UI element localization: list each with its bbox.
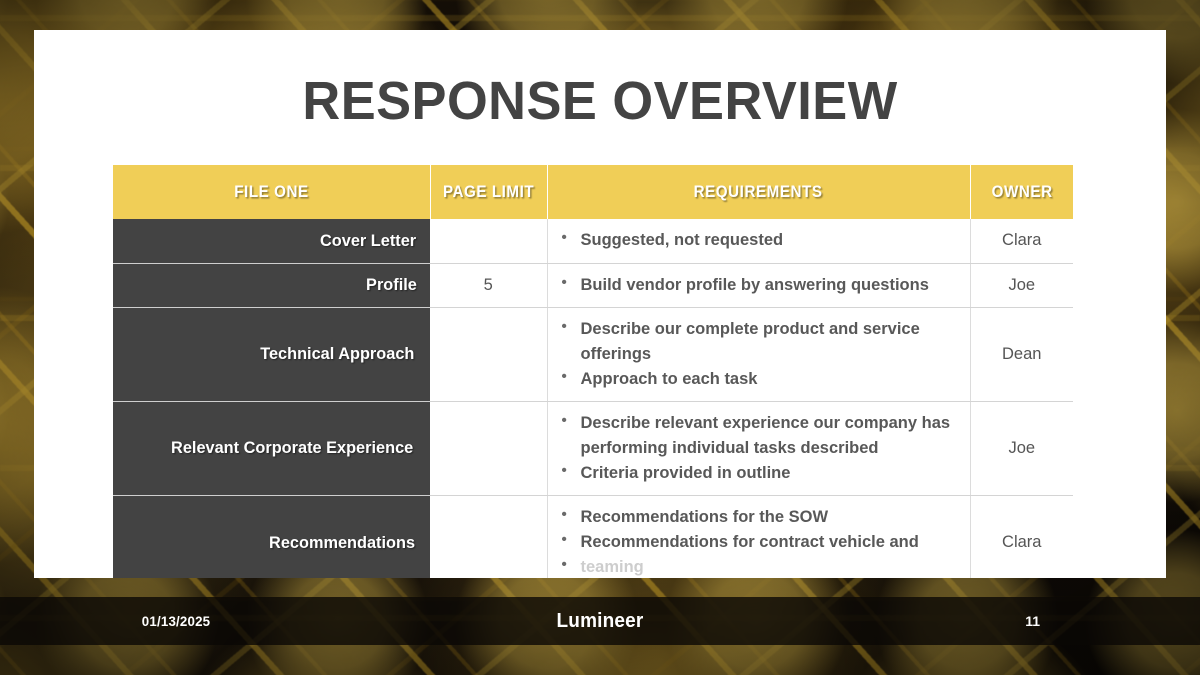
cell-file-name: Relevant Corporate Experience xyxy=(113,401,430,495)
table-row[interactable]: Profile 5 Build vendor profile by answer… xyxy=(113,263,1073,307)
cell-owner: Joe xyxy=(970,401,1073,495)
table-row[interactable]: Cover Letter Suggested, not requested Cl… xyxy=(113,219,1073,263)
file-name-label: Relevant Corporate Experience xyxy=(171,438,413,458)
requirement-item: Build vendor profile by answering questi… xyxy=(560,273,956,298)
cell-page-limit xyxy=(430,401,547,495)
requirement-item-clipped: teaming xyxy=(560,555,956,578)
cell-page-limit xyxy=(430,219,547,263)
column-header-owner[interactable]: OWNER xyxy=(970,165,1073,219)
requirement-item: Describe our complete product and servic… xyxy=(560,317,956,367)
footer-brand-name: Lumineer xyxy=(30,610,1170,633)
cell-file-name: Cover Letter xyxy=(113,219,430,263)
requirements-list: Build vendor profile by answering questi… xyxy=(560,273,956,298)
requirement-item: Recommendations for the SOW xyxy=(560,505,956,530)
cell-owner: Clara xyxy=(970,496,1073,578)
requirement-item: Describe relevant experience our company… xyxy=(560,411,956,461)
file-name-label: Recommendations xyxy=(269,533,415,553)
requirement-item: Suggested, not requested xyxy=(560,228,956,253)
column-header-owner-label: OWNER xyxy=(991,183,1052,202)
cell-requirements: Describe relevant experience our company… xyxy=(547,401,970,495)
page-title: RESPONSE OVERVIEW xyxy=(51,74,1149,128)
cell-page-limit xyxy=(430,496,547,578)
table-row[interactable]: Relevant Corporate Experience Describe r… xyxy=(113,401,1073,495)
response-overview-table: FILE ONE PAGE LIMIT REQUIREMENTS OWNER xyxy=(113,165,1073,578)
slide-content-card: RESPONSE OVERVIEW FILE ONE PAGE LIMIT xyxy=(34,30,1166,578)
requirements-list: Describe relevant experience our company… xyxy=(560,411,956,486)
requirements-list: Suggested, not requested xyxy=(560,228,956,253)
requirement-item: Recommendations for contract vehicle and xyxy=(560,530,956,555)
requirement-item: Criteria provided in outline xyxy=(560,461,956,486)
column-header-requirements-label: REQUIREMENTS xyxy=(694,183,823,202)
cell-file-name: Technical Approach xyxy=(113,307,430,401)
requirements-list: Recommendations for the SOW Recommendati… xyxy=(560,505,956,578)
footer-page-number: 11 xyxy=(1025,613,1040,629)
slide-footer: 01/13/2025 Lumineer 11 xyxy=(0,597,1200,645)
cell-owner: Dean xyxy=(970,307,1073,401)
cell-requirements: Describe our complete product and servic… xyxy=(547,307,970,401)
requirement-item: Approach to each task xyxy=(560,367,956,392)
table-header-row: FILE ONE PAGE LIMIT REQUIREMENTS OWNER xyxy=(113,165,1073,219)
table-row[interactable]: Technical Approach Describe our complete… xyxy=(113,307,1073,401)
file-name-label: Cover Letter xyxy=(320,231,416,251)
column-header-requirements[interactable]: REQUIREMENTS xyxy=(547,165,970,219)
column-header-page-limit-label: PAGE LIMIT xyxy=(443,183,534,202)
response-overview-table-container: FILE ONE PAGE LIMIT REQUIREMENTS OWNER xyxy=(113,165,1073,578)
cell-file-name: Profile xyxy=(113,263,430,307)
column-header-file-one[interactable]: FILE ONE xyxy=(113,165,430,219)
file-name-label: Profile xyxy=(366,275,417,295)
cell-owner: Joe xyxy=(970,263,1073,307)
cell-owner: Clara xyxy=(970,219,1073,263)
cell-page-limit: 5 xyxy=(430,263,547,307)
column-header-page-limit[interactable]: PAGE LIMIT xyxy=(430,165,547,219)
cell-requirements: Build vendor profile by answering questi… xyxy=(547,263,970,307)
column-header-file-one-label: FILE ONE xyxy=(234,183,308,202)
slide-canvas: RESPONSE OVERVIEW FILE ONE PAGE LIMIT xyxy=(0,0,1200,675)
cell-file-name: Recommendations xyxy=(113,496,430,578)
cell-requirements: Suggested, not requested xyxy=(547,219,970,263)
cell-requirements: Recommendations for the SOW Recommendati… xyxy=(547,496,970,578)
file-name-label: Technical Approach xyxy=(261,344,415,364)
requirements-list: Describe our complete product and servic… xyxy=(560,317,956,392)
cell-page-limit xyxy=(430,307,547,401)
table-row[interactable]: Recommendations Recommendations for the … xyxy=(113,496,1073,578)
